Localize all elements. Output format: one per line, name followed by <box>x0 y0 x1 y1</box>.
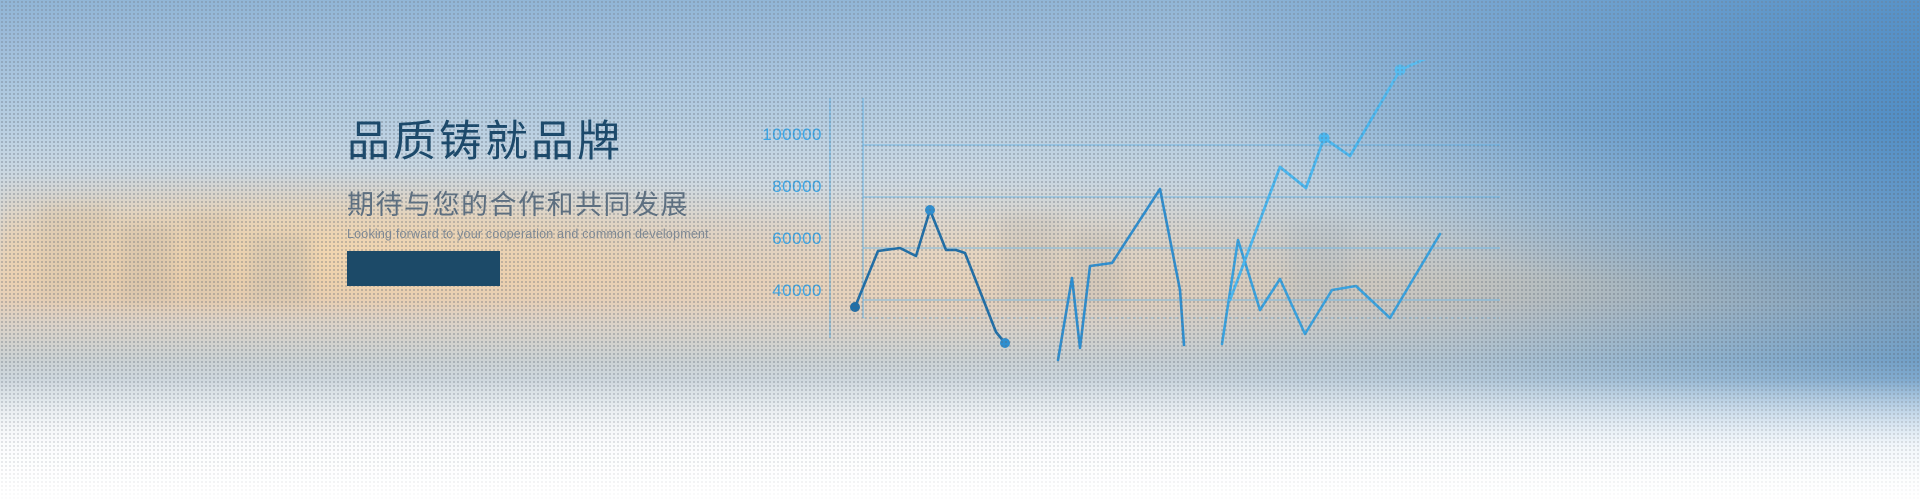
promo-banner: 100000 80000 60000 40000 品质铸就品牌 期待与您的合作和… <box>0 0 1920 500</box>
banner-subtitle-english: Looking forward to your cooperation and … <box>347 227 767 242</box>
halftone-fade-overlay <box>0 0 1920 500</box>
banner-subtitle: 期待与您的合作和共同发展 <box>347 191 767 221</box>
banner-copy: 品质铸就品牌 期待与您的合作和共同发展 Looking forward to y… <box>347 120 767 242</box>
banner-title: 品质铸就品牌 <box>347 120 767 165</box>
banner-cta-button[interactable] <box>347 251 500 286</box>
